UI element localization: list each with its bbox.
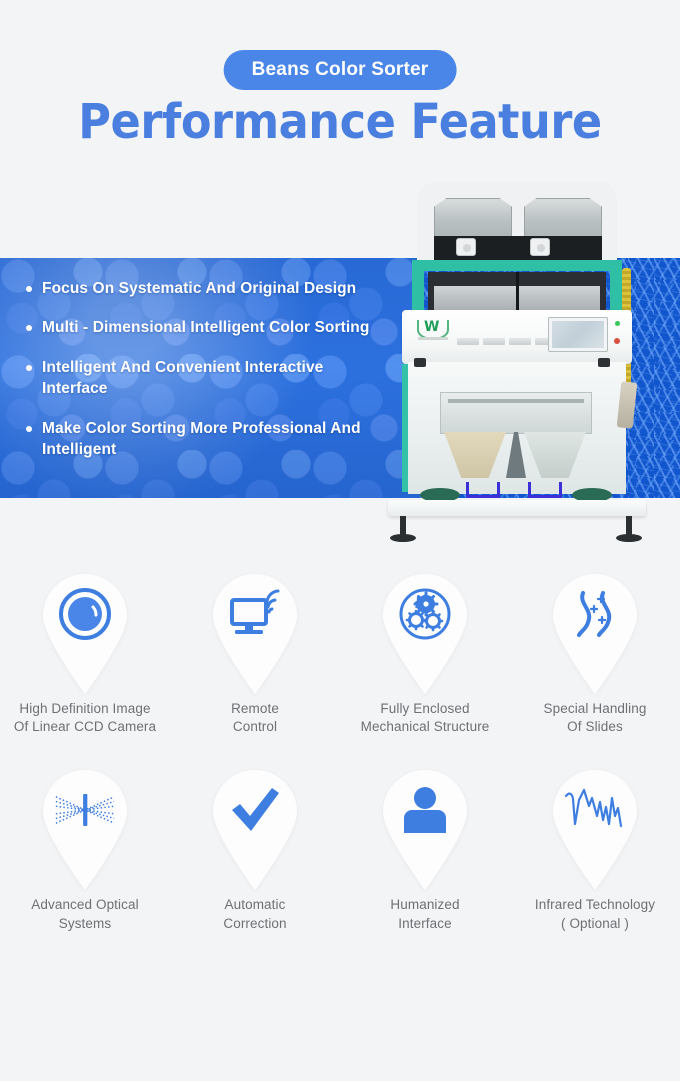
vent-slot: [457, 338, 479, 345]
enclosed-gears-icon: [394, 583, 456, 645]
feature-item-label: Focus On Systematic And Original Design: [42, 278, 356, 299]
icon-feature-label: Humanized Interface: [390, 896, 459, 932]
feature-list-item: Focus On Systematic And Original Design: [26, 278, 386, 299]
machine-foot-right: [626, 516, 632, 538]
machine-outlet-left: [466, 482, 500, 498]
user-person-icon: [394, 779, 456, 841]
pin-marker: [549, 572, 641, 694]
icon-feature-cell[interactable]: Automatic Correction: [170, 768, 340, 932]
vent-slot: [483, 338, 505, 345]
icon-feature-label: Remote Control: [231, 700, 279, 736]
icon-feature-label: Automatic Correction: [223, 896, 286, 932]
badge-beans-color-sorter: Beans Color Sorter: [224, 50, 457, 90]
icon-feature-cell[interactable]: Humanized Interface: [340, 768, 510, 932]
icon-feature-label: High Definition Image Of Linear CCD Came…: [14, 700, 156, 736]
feature-item-label: Make Color Sorting More Professional And…: [42, 418, 386, 461]
feature-item-label: Intelligent And Convenient Interactive I…: [42, 357, 386, 400]
icon-feature-label: Advanced Optical Systems: [31, 896, 138, 932]
slides-handling-icon: [564, 583, 626, 645]
icon-feature-cell[interactable]: Fully Enclosed Mechanical Structure: [340, 572, 510, 736]
icon-feature-cell[interactable]: Special Handling Of Slides: [510, 572, 680, 736]
machine-hopper-right: [524, 198, 602, 238]
machine-touchscreen: [548, 317, 608, 352]
feature-item-label: Multi - Dimensional Intelligent Color So…: [42, 317, 369, 338]
pin-marker: [39, 768, 131, 890]
bullet-dot-icon: [26, 365, 32, 371]
feature-list-item: Intelligent And Convenient Interactive I…: [26, 357, 386, 400]
icon-feature-cell[interactable]: High Definition Image Of Linear CCD Came…: [0, 572, 170, 736]
pin-marker: [209, 768, 301, 890]
machine-outlet-right: [528, 482, 562, 498]
checkmark-icon: [224, 779, 286, 841]
ccd-camera-lens-icon: [54, 583, 116, 645]
machine-led-green: [615, 321, 620, 326]
icon-feature-cell[interactable]: Infrared Technology ( Optional ): [510, 768, 680, 932]
feature-list-item: Multi - Dimensional Intelligent Color So…: [26, 317, 386, 338]
icon-feature-label: Special Handling Of Slides: [544, 700, 647, 736]
page-root: Beans Color Sorter Performance Feature F…: [0, 0, 680, 1081]
machine-motor-left: [456, 238, 476, 256]
machine-base-plate: [388, 500, 646, 516]
icon-feature-label: Infrared Technology ( Optional ): [535, 896, 655, 932]
machine-latch-right: [598, 358, 610, 367]
infrared-waveform-icon: [564, 779, 626, 841]
machine-tray-slot: [448, 399, 584, 403]
machine-motor-right: [530, 238, 550, 256]
pin-marker: [379, 768, 471, 890]
vent-slot: [509, 338, 531, 345]
machine-vent-slots: [457, 338, 557, 345]
machine-teal-shelf: [412, 260, 622, 271]
icon-feature-row: Advanced Optical Systems Automatic Corre…: [0, 768, 680, 932]
icon-feature-cell[interactable]: Remote Control: [170, 572, 340, 736]
remote-monitor-wifi-icon: [224, 583, 286, 645]
machine-led-red: [614, 338, 620, 344]
bullet-dot-icon: [26, 286, 32, 292]
pin-marker: [209, 572, 301, 694]
pin-marker: [549, 768, 641, 890]
machine-brand-logo: W: [416, 318, 450, 346]
logo-underline: [418, 337, 448, 340]
machine-latch-left: [414, 358, 426, 367]
pin-marker: [39, 572, 131, 694]
icon-feature-cell[interactable]: Advanced Optical Systems: [0, 768, 170, 932]
bullet-dot-icon: [26, 325, 32, 331]
icon-feature-grid: High Definition Image Of Linear CCD Came…: [0, 572, 680, 933]
feature-list-item: Make Color Sorting More Professional And…: [26, 418, 386, 461]
page-header: Beans Color Sorter Performance Feature: [0, 0, 680, 180]
icon-feature-row: High Definition Image Of Linear CCD Came…: [0, 572, 680, 736]
icon-feature-label: Fully Enclosed Mechanical Structure: [361, 700, 490, 736]
logo-letter-icon: W: [424, 320, 439, 334]
machine-foot-left: [400, 516, 406, 538]
optical-lens-beam-icon: [54, 779, 116, 841]
pin-marker: [379, 572, 471, 694]
feature-bullet-list: Focus On Systematic And Original Design …: [26, 278, 386, 460]
machine-hopper-left: [434, 198, 512, 238]
product-image-color-sorter: W: [372, 182, 662, 560]
machine-control-panel: W: [402, 310, 632, 364]
machine-side-cable: [617, 381, 638, 428]
bullet-dot-icon: [26, 426, 32, 432]
page-title: Performance Feature: [24, 96, 656, 149]
